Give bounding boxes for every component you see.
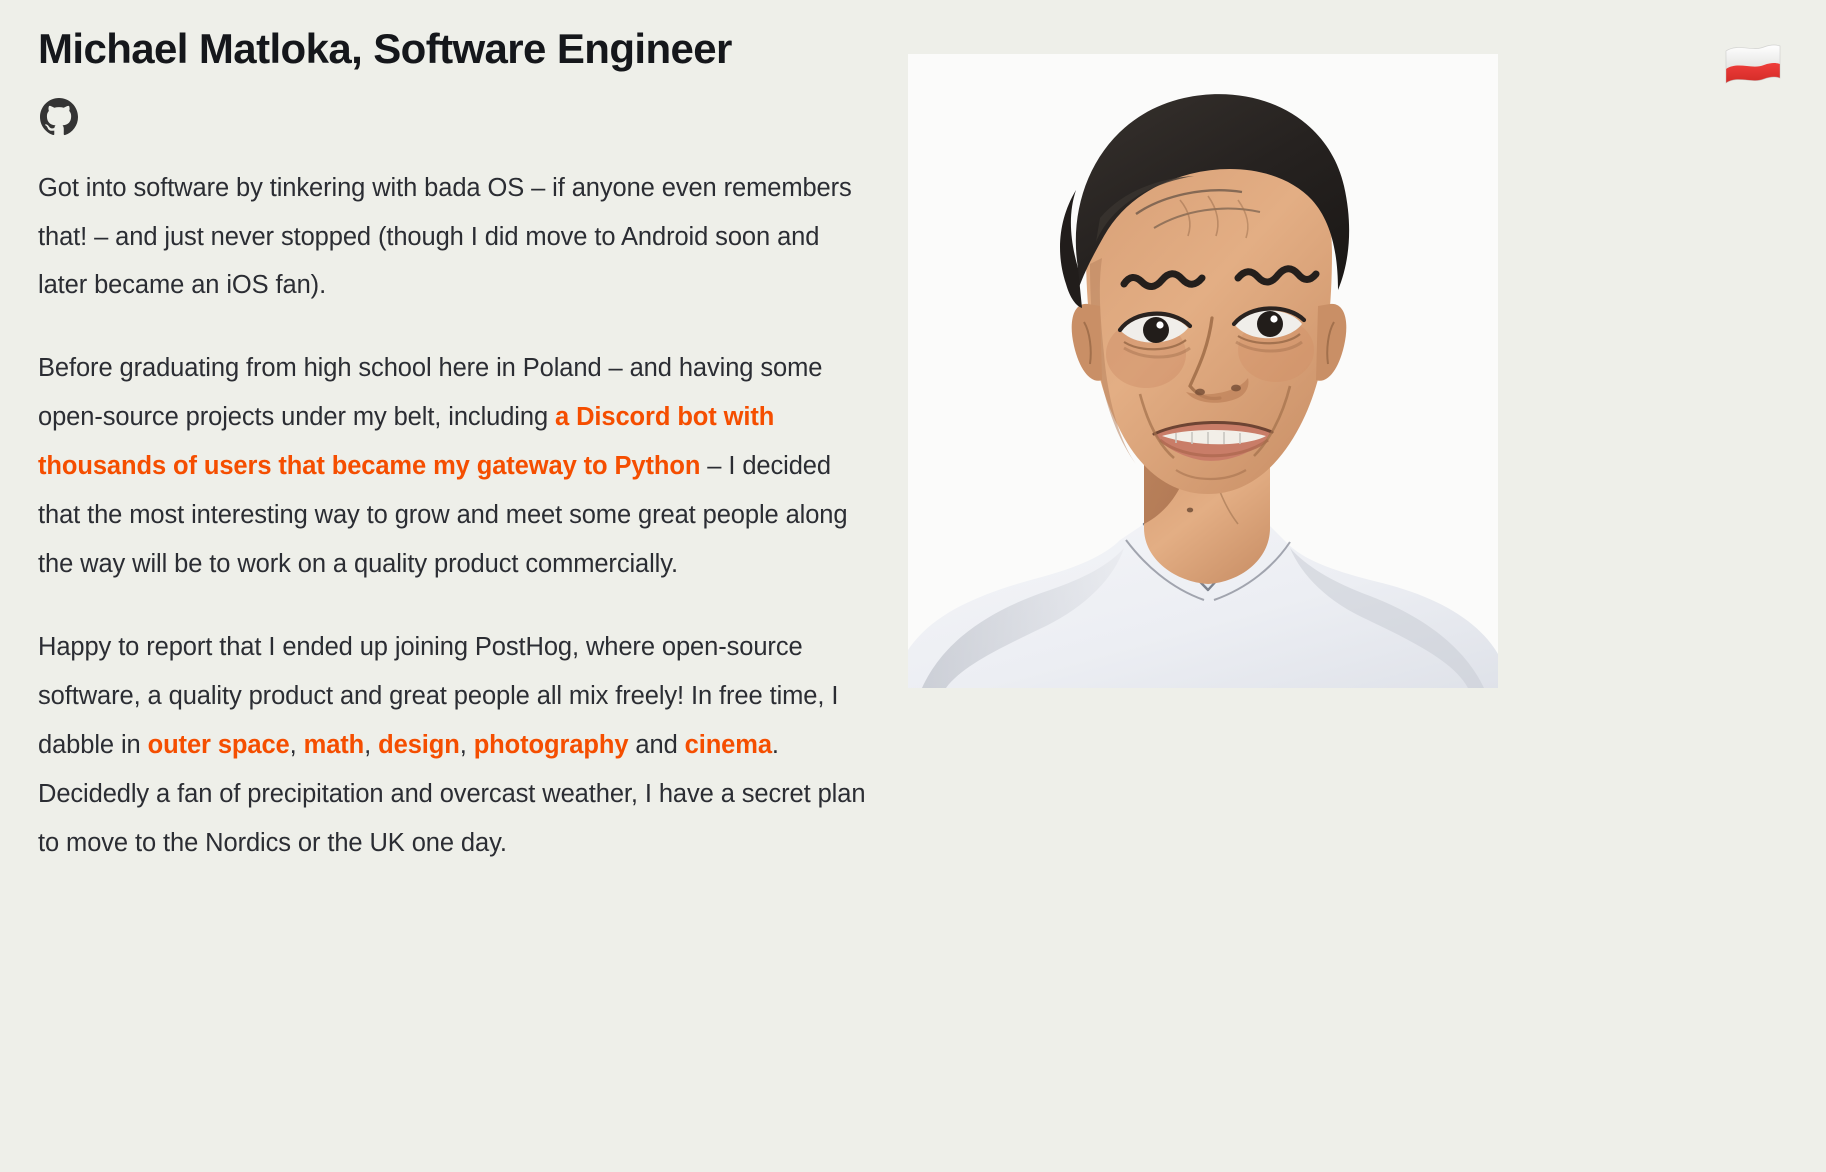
bio-paragraph-3-sep-4: and <box>628 731 684 759</box>
bio-paragraphs: Got into software by tinkering with bada… <box>38 164 868 868</box>
bio-paragraph-3-sep-2: , <box>364 731 378 759</box>
poland-flag-emoji <box>1722 38 1784 86</box>
bio-paragraph-3-sep-3: , <box>460 731 474 759</box>
cinema-link[interactable]: cinema <box>685 731 772 759</box>
page-title: Michael Matloka, Software Engineer <box>38 24 868 74</box>
profile-page: Michael Matloka, Software Engineer Got i… <box>0 0 1826 1172</box>
bio-paragraph-2: Before graduating from high school here … <box>38 344 868 589</box>
bio-paragraph-1: Got into software by tinkering with bada… <box>38 164 868 311</box>
bio-paragraph-1-text: Got into software by tinkering with bada… <box>38 174 852 300</box>
profile-portrait-illustration <box>908 54 1498 688</box>
design-link[interactable]: design <box>378 731 460 759</box>
bio-paragraph-3-sep-1: , <box>290 731 304 759</box>
math-link[interactable]: math <box>304 731 365 759</box>
outer-space-link[interactable]: outer space <box>148 731 290 759</box>
github-icon[interactable] <box>38 96 80 138</box>
bio-paragraph-3: Happy to report that I ended up joining … <box>38 623 868 868</box>
photography-link[interactable]: photography <box>474 731 629 759</box>
bio-content: Michael Matloka, Software Engineer Got i… <box>38 24 868 868</box>
social-links <box>38 96 868 138</box>
